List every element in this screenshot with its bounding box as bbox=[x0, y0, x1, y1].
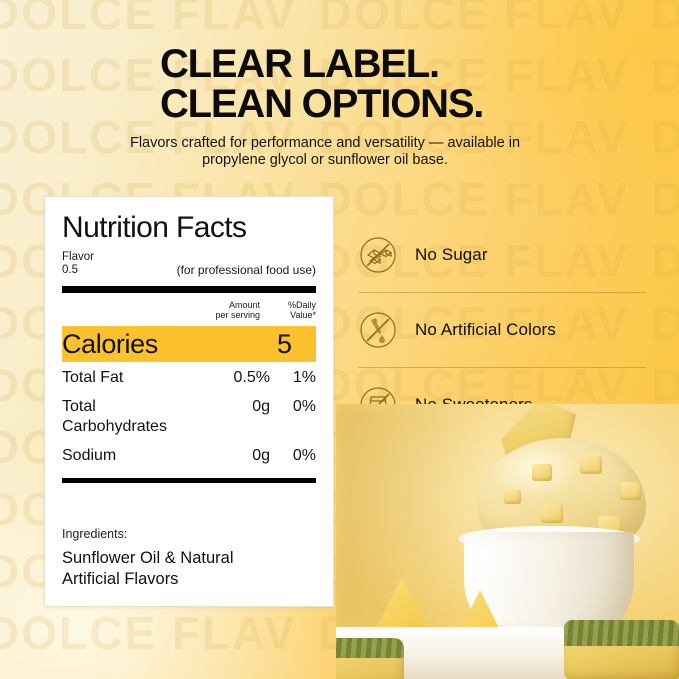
page-title: CLEAR LABEL. CLEAN OPTIONS. bbox=[160, 44, 600, 124]
serving-label: Flavor bbox=[62, 251, 94, 264]
pineapple-chunk bbox=[504, 490, 521, 504]
nutrition-facts-title: Nutrition Facts bbox=[62, 211, 316, 245]
feature-label: No Artificial Colors bbox=[415, 320, 556, 340]
serving-info: Flavor 0.5 (for professional food use) bbox=[62, 251, 316, 277]
feature-item-no-artificial-colors: No Artificial Colors bbox=[358, 293, 646, 367]
column-header-dv-line2: Value* bbox=[274, 310, 316, 320]
calories-label: Calories bbox=[62, 331, 158, 358]
pineapple-slice-left-skin bbox=[336, 638, 404, 658]
headline-line-1: CLEAR LABEL. bbox=[160, 42, 439, 86]
rule-thick-top bbox=[62, 286, 316, 293]
no-artificial-colors-icon bbox=[358, 310, 398, 350]
headline-subtext: Flavors crafted for performance and vers… bbox=[105, 135, 545, 169]
pineapple-chunk bbox=[580, 456, 602, 474]
pineapple-chunk bbox=[620, 482, 641, 500]
ingredients-line-2: Artificial Flavors bbox=[62, 570, 178, 588]
serving-size: Flavor 0.5 bbox=[62, 251, 94, 277]
nutrient-row: Total Carbohydrates0g0% bbox=[62, 391, 316, 440]
column-header-amount: Amount per serving bbox=[196, 300, 260, 320]
promo-graphic: DOLCE FLAVDOLCE FLAVDOLCE FLAVDOLCE FLAV… bbox=[0, 0, 679, 679]
nutrient-name: Sodium bbox=[62, 446, 204, 466]
nutrient-daily-value: 1% bbox=[270, 368, 316, 388]
pineapple-chunk bbox=[541, 504, 563, 523]
column-header-amount-line1: Amount bbox=[196, 300, 260, 310]
feature-item-no-sugar: No Sugar bbox=[358, 218, 646, 292]
column-header-daily-value: %Daily Value* bbox=[274, 300, 316, 320]
ingredients-line-1: Sunflower Oil & Natural bbox=[62, 549, 234, 567]
professional-use-note: (for professional food use) bbox=[177, 264, 316, 277]
pineapple-slice-right-skin bbox=[564, 620, 679, 646]
watermark-row: DOLCE FLAVDOLCE FLAVDOLCE FLAVDOLCE FLAV bbox=[0, 0, 679, 44]
nutrient-amount: 0.5% bbox=[204, 368, 270, 388]
serving-value: 0.5 bbox=[62, 264, 94, 277]
product-photo bbox=[336, 404, 679, 679]
nutrient-rows: Total Fat0.5%1%Total Carbohydrates0g0%So… bbox=[62, 362, 316, 469]
column-header-dv-line1: %Daily bbox=[274, 300, 316, 310]
headline-block: CLEAR LABEL. CLEAN OPTIONS. Flavors craf… bbox=[160, 44, 600, 169]
feature-label: No Sugar bbox=[415, 245, 488, 265]
nutrition-column-headers: Amount per serving %Daily Value* bbox=[62, 300, 316, 320]
column-header-amount-line2: per serving bbox=[196, 310, 260, 320]
nutrient-amount: 0g bbox=[204, 397, 270, 417]
nutrition-facts-card: Nutrition Facts Flavor 0.5 (for professi… bbox=[44, 196, 334, 607]
nutrient-daily-value: 0% bbox=[270, 397, 316, 417]
nutrient-row: Total Fat0.5%1% bbox=[62, 362, 316, 391]
no-sugar-icon bbox=[358, 235, 398, 275]
nutrient-name: Total Fat bbox=[62, 368, 204, 388]
calories-row: Calories 5 bbox=[62, 326, 316, 362]
ingredients-label: Ingredients: bbox=[62, 527, 316, 541]
nutrient-name: Total Carbohydrates bbox=[62, 397, 204, 437]
nutrient-daily-value: 0% bbox=[270, 446, 316, 466]
pineapple-chunk bbox=[532, 464, 552, 481]
headline-line-2: CLEAN OPTIONS. bbox=[160, 84, 600, 124]
ingredients-text: Sunflower Oil & Natural Artificial Flavo… bbox=[62, 548, 316, 590]
nutrient-amount: 0g bbox=[204, 446, 270, 466]
nutrient-row: Sodium0g0% bbox=[62, 440, 316, 469]
calories-value: 5 bbox=[277, 331, 292, 358]
